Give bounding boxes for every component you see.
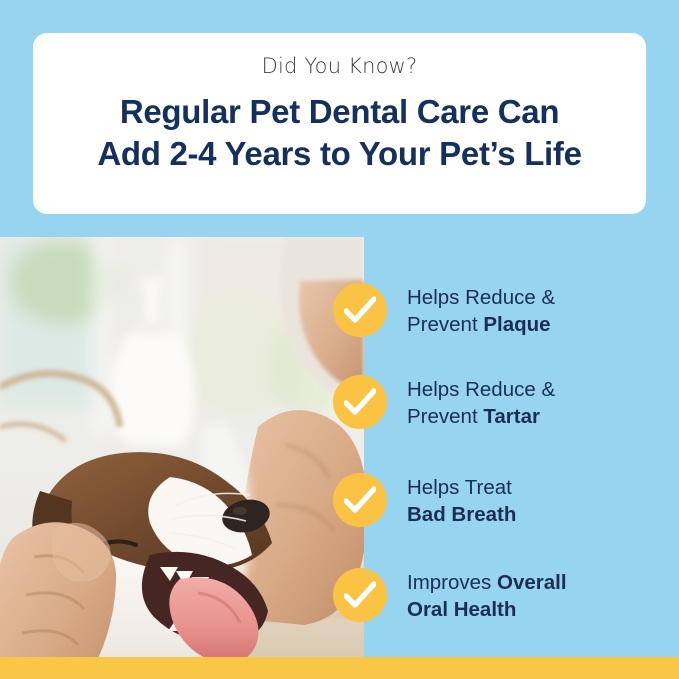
benefit-line-2-plain: Prevent <box>407 405 483 428</box>
list-item: Helps Reduce & Prevent Plaque <box>333 283 679 339</box>
list-item: Helps Reduce & Prevent Tartar <box>333 375 679 431</box>
eyebrow-text: Did You Know? <box>262 54 418 79</box>
benefit-line-2-bold: Oral Health <box>407 598 516 621</box>
check-circle-icon <box>333 375 387 429</box>
benefit-text: Helps Reduce & Prevent Tartar <box>407 376 555 431</box>
benefit-line-2-bold: Plaque <box>483 313 550 336</box>
check-circle-icon <box>333 283 387 337</box>
benefit-line-1: Helps Reduce & <box>407 286 555 309</box>
benefit-line-1: Helps Reduce & <box>407 378 555 401</box>
infographic-root: Did You Know? Regular Pet Dental Care Ca… <box>0 0 679 679</box>
benefit-line-1-plain: Improves <box>407 571 497 594</box>
headline-line-1: Regular Pet Dental Care Can <box>97 91 581 133</box>
headline-line-2: Add 2-4 Years to Your Pet’s Life <box>97 133 581 175</box>
list-item: Helps Treat Bad Breath <box>333 473 679 529</box>
list-item: Improves Overall Oral Health <box>333 568 679 624</box>
benefit-line-2-bold: Tartar <box>483 405 540 428</box>
benefits-list: Helps Reduce & Prevent Plaque Helps Redu… <box>333 270 679 650</box>
dog-photo <box>0 237 364 657</box>
benefit-text: Improves Overall Oral Health <box>407 569 567 624</box>
benefit-line-2-plain: Prevent <box>407 313 483 336</box>
headline-card: Did You Know? Regular Pet Dental Care Ca… <box>33 33 646 214</box>
benefit-line-1: Helps Treat <box>407 476 512 499</box>
page-title: Regular Pet Dental Care Can Add 2-4 Year… <box>97 91 581 175</box>
check-circle-icon <box>333 473 387 527</box>
bottom-accent-bar <box>0 657 679 679</box>
benefit-text: Helps Reduce & Prevent Plaque <box>407 284 555 339</box>
benefit-text: Helps Treat Bad Breath <box>407 474 516 529</box>
check-circle-icon <box>333 568 387 622</box>
benefit-line-1-bold: Overall <box>497 571 567 594</box>
benefit-line-2-bold: Bad Breath <box>407 503 516 526</box>
